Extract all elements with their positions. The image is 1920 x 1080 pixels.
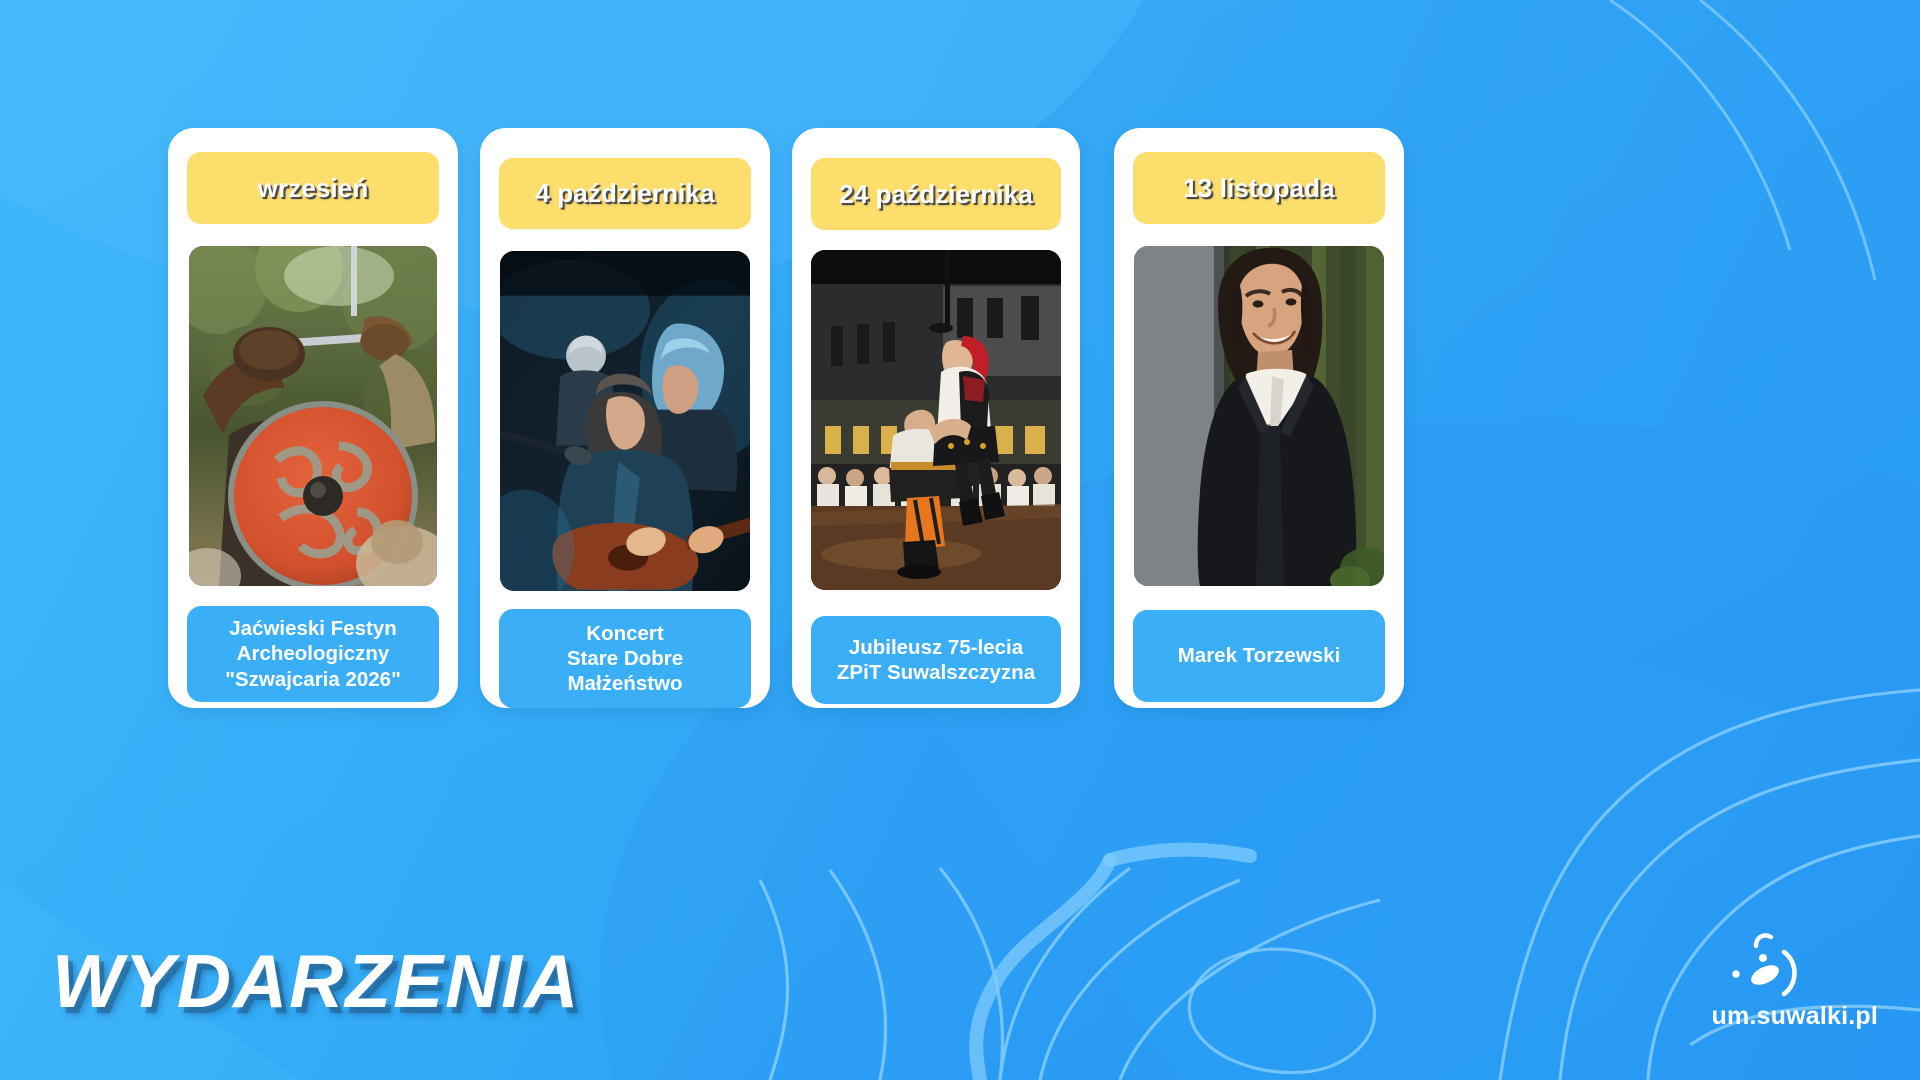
event-card[interactable]: 13 listopada bbox=[1114, 128, 1404, 708]
event-card[interactable]: wrzesień bbox=[168, 128, 458, 708]
event-date-badge: 13 listopada bbox=[1133, 152, 1385, 224]
event-card[interactable]: 4 października bbox=[480, 128, 770, 708]
event-date-badge: 4 października bbox=[499, 158, 751, 229]
zpit-suwalszczyzna-photo bbox=[811, 250, 1061, 590]
event-card[interactable]: 24 października bbox=[792, 128, 1080, 708]
event-title-text: Jaćwieski FestynArcheologiczny"Szwajcari… bbox=[225, 616, 401, 692]
event-title-text: Jubileusz 75-leciaZPiT Suwalszczyzna bbox=[837, 635, 1035, 685]
events-card-row: wrzesień bbox=[0, 0, 1920, 1080]
event-title: KoncertStare DobreMałżeństwo bbox=[499, 609, 751, 708]
page-title: WYDARZENIA bbox=[52, 938, 580, 1024]
brand-block[interactable]: um.suwalki.pl bbox=[1658, 930, 1878, 1050]
marek-torzewski-photo bbox=[1134, 246, 1384, 586]
event-title: Marek Torzewski bbox=[1133, 610, 1385, 702]
event-title: Jubileusz 75-leciaZPiT Suwalszczyzna bbox=[811, 616, 1061, 704]
suwalki-logo-mark bbox=[1726, 930, 1816, 1002]
event-date-badge: wrzesień bbox=[187, 152, 439, 224]
jacwieski-festyn-archeologiczny-photo bbox=[189, 246, 437, 586]
brand-url[interactable]: um.suwalki.pl bbox=[1658, 1002, 1878, 1031]
event-title-text: KoncertStare DobreMałżeństwo bbox=[567, 621, 683, 697]
poster-canvas: wrzesień bbox=[0, 0, 1920, 1080]
event-date-badge: 24 października bbox=[811, 158, 1061, 230]
stare-dobre-malzenstwo-photo bbox=[500, 251, 750, 590]
event-title-text: Marek Torzewski bbox=[1178, 643, 1341, 668]
event-title: Jaćwieski FestynArcheologiczny"Szwajcari… bbox=[187, 606, 439, 702]
